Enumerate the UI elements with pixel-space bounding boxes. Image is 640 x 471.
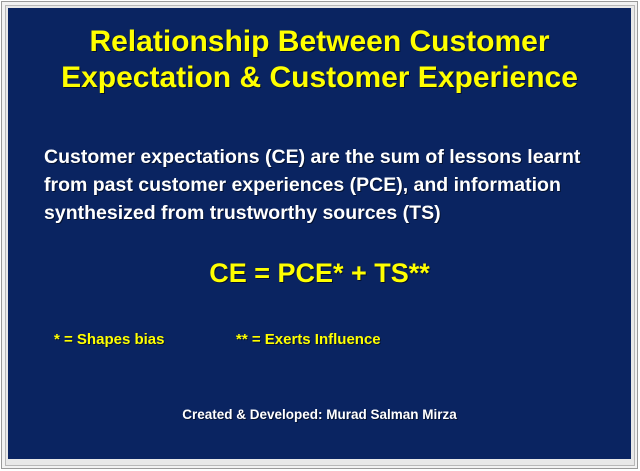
slide-title-line-2: Expectation & Customer Experience [8, 60, 631, 96]
credit-container: Created & Developed: Murad Salman Mirza [8, 406, 631, 424]
slide-title: Relationship Between Customer Expectatio… [8, 24, 631, 96]
credit-text: Created & Developed: Murad Salman Mirza [182, 407, 457, 422]
body-line-1: Customer expectations (CE) are the sum o… [44, 143, 604, 171]
footnote-legend: * = Shapes bias** = Exerts Influence [54, 330, 574, 350]
formula-text: CE = PCE* + TS** [209, 258, 430, 288]
slide-frame: Relationship Between Customer Expectatio… [0, 0, 640, 471]
slide-body-paragraph: Customer expectations (CE) are the sum o… [44, 143, 604, 227]
legend-item-shapes-bias: * = Shapes bias [54, 330, 236, 350]
formula-container: CE = PCE* + TS** [8, 257, 631, 289]
body-line-2: from past customer experiences (PCE), an… [44, 171, 604, 199]
legend-item-exerts-influence: ** = Exerts Influence [236, 330, 381, 350]
body-line-3: synthesized from trustworthy sources (TS… [44, 199, 604, 227]
slide-title-line-1: Relationship Between Customer [8, 24, 631, 60]
slide-canvas: Relationship Between Customer Expectatio… [8, 8, 631, 459]
